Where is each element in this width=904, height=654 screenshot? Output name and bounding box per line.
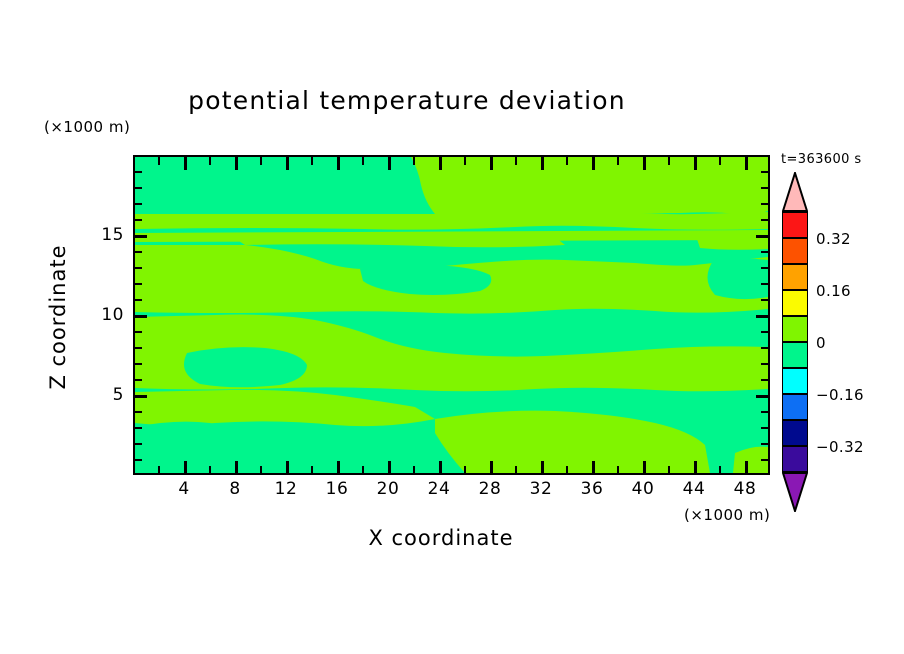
colorbar-bottom-cap-icon — [782, 472, 808, 512]
x-tick-label: 8 — [215, 479, 255, 499]
colorbar: 0.32 0.16 0 −0.16 −0.32 — [782, 212, 808, 524]
x-tick-group-bottom — [133, 460, 770, 474]
colorbar-top-cap-icon — [782, 172, 808, 212]
x-tick-label: 20 — [368, 479, 408, 499]
y-tick-minor-right — [761, 411, 768, 413]
x-tick-label: 12 — [266, 479, 306, 499]
y-tick-minor — [135, 171, 142, 173]
x-tick-label: 44 — [674, 479, 714, 499]
y-tick-minor — [135, 203, 142, 205]
colorbar-segment — [782, 264, 808, 290]
x-axis-unit-label: (×1000 m) — [684, 506, 770, 524]
y-tick-minor — [135, 331, 142, 333]
y-tick-label: 10 — [86, 305, 124, 325]
x-tick-label: 36 — [572, 479, 612, 499]
y-tick-minor — [135, 267, 142, 269]
y-tick-minor — [135, 219, 142, 221]
y-tick-minor-right — [761, 219, 768, 221]
y-tick-major — [135, 315, 147, 318]
y-tick-minor — [135, 299, 142, 301]
y-tick-minor — [135, 443, 142, 445]
x-axis-title: X coordinate — [0, 526, 904, 550]
x-tick-label: 32 — [521, 479, 561, 499]
colorbar-label: 0.16 — [816, 282, 851, 300]
y-tick-minor — [135, 427, 142, 429]
y-tick-minor-right — [761, 187, 768, 189]
x-tick-label: 28 — [470, 479, 510, 499]
y-tick-minor — [135, 379, 142, 381]
y-tick-minor-right — [761, 347, 768, 349]
x-tick-label: 16 — [317, 479, 357, 499]
y-tick-minor — [135, 187, 142, 189]
colorbar-label: −0.32 — [816, 438, 864, 456]
y-tick-major-right — [756, 315, 768, 318]
y-tick-minor-right — [761, 283, 768, 285]
y-tick-minor-right — [761, 251, 768, 253]
time-annotation: t=363600 s — [781, 152, 862, 167]
chart-title: potential temperature deviation — [0, 86, 904, 115]
colorbar-segment — [782, 368, 808, 394]
y-tick-label: 5 — [86, 385, 124, 405]
y-tick-minor-right — [761, 299, 768, 301]
colorbar-segment — [782, 212, 808, 238]
y-tick-minor-right — [761, 171, 768, 173]
y-tick-minor-right — [761, 331, 768, 333]
y-axis-unit-label: (×1000 m) — [44, 118, 130, 136]
colorbar-segment — [782, 316, 808, 342]
y-tick-minor-right — [761, 379, 768, 381]
colorbar-segment — [782, 290, 808, 316]
x-tick-label: 24 — [419, 479, 459, 499]
colorbar-segment — [782, 238, 808, 264]
y-tick-major-right — [756, 235, 768, 238]
y-tick-minor — [135, 283, 142, 285]
y-tick-major-right — [756, 395, 768, 398]
contour-field — [135, 157, 768, 473]
y-tick-minor-right — [761, 363, 768, 365]
y-tick-minor-right — [761, 427, 768, 429]
y-tick-major — [135, 235, 147, 238]
y-tick-minor-right — [761, 443, 768, 445]
y-tick-minor — [135, 347, 142, 349]
colorbar-label: −0.16 — [816, 386, 864, 404]
x-tick-label: 40 — [623, 479, 663, 499]
x-tick-label: 48 — [725, 479, 765, 499]
contour-plot-area — [133, 155, 770, 475]
y-tick-minor — [135, 251, 142, 253]
chart-title-text: potential temperature deviation — [188, 86, 626, 115]
y-tick-minor-right — [761, 267, 768, 269]
y-tick-minor-right — [761, 203, 768, 205]
x-tick-label: 4 — [164, 479, 204, 499]
colorbar-label: 0.32 — [816, 230, 851, 248]
y-tick-major — [135, 395, 147, 398]
colorbar-segment — [782, 394, 808, 420]
y-tick-minor — [135, 411, 142, 413]
colorbar-segment — [782, 342, 808, 368]
colorbar-label: 0 — [816, 334, 826, 352]
x-tick-group-top — [133, 157, 770, 171]
y-tick-minor — [135, 363, 142, 365]
colorbar-segment — [782, 420, 808, 446]
y-tick-label: 15 — [86, 225, 124, 245]
y-axis-title: Z coordinate — [46, 197, 70, 437]
colorbar-segment — [782, 446, 808, 472]
